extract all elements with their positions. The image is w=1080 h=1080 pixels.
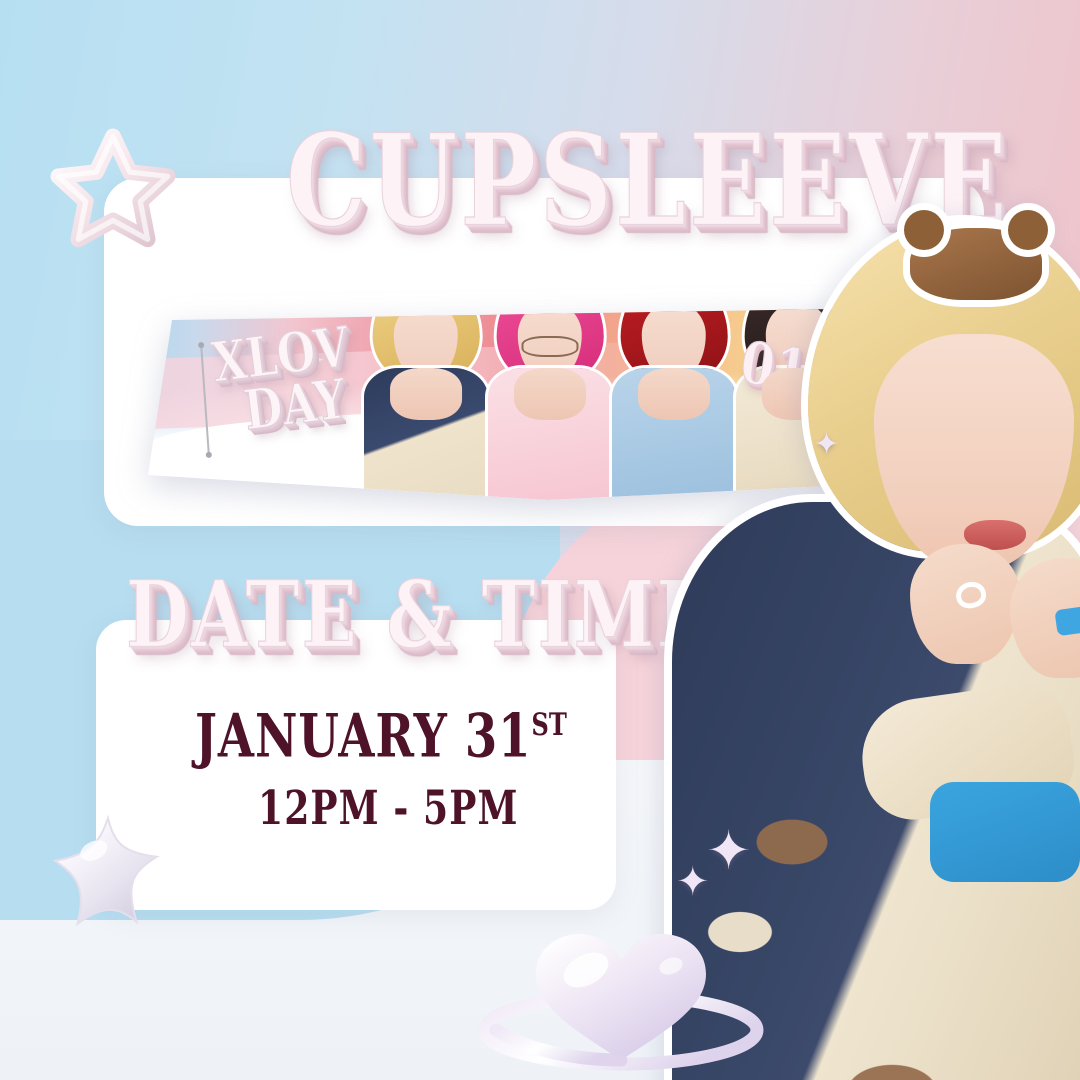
event-date-ordinal: ST [531,708,566,744]
star-outline-icon [50,128,176,254]
blue-ring-icon [1054,606,1080,636]
event-time: 12PM - 5PM [258,780,519,835]
heart-planet-icon [466,908,776,1078]
glasses-icon [521,336,578,357]
event-date-text: JANUARY 31 [195,700,531,771]
sparkle-icon: ✦ [388,285,410,311]
member-headband [512,265,589,307]
member-hands [514,368,586,420]
star-solid-icon [44,812,172,934]
hero-blue-accent [930,782,1080,882]
sleeve-label-line2: DAY [240,368,349,444]
event-date: JANUARY 31ST [195,700,567,771]
member-pink [488,265,612,500]
poster-canvas: ✦ ✦ ✦ ✦ XLOV DAY 010725 CUPSLEEVE DATE &… [0,0,1080,1080]
bear-hairclip-icon [411,260,443,293]
member-blonde [364,265,488,500]
bear-hairclip-icon [910,228,1042,300]
member-hands [390,368,462,420]
